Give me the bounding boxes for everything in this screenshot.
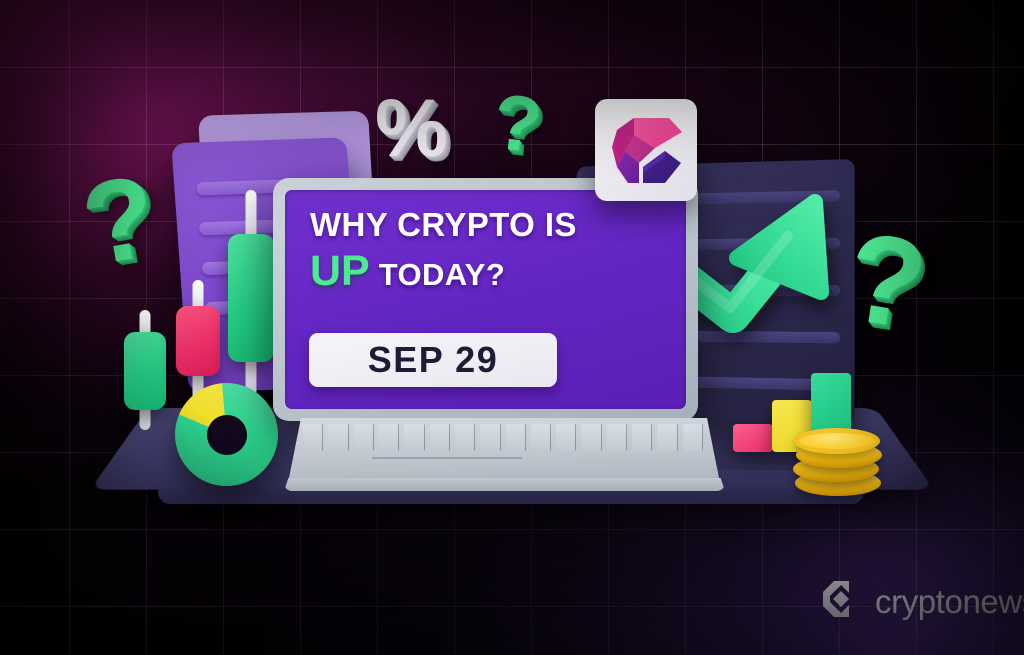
crypto-news-banner: WHY CRYPTO IS UPTODAY? SEP 29: [0, 0, 1024, 655]
vignette-overlay: [0, 0, 1024, 655]
